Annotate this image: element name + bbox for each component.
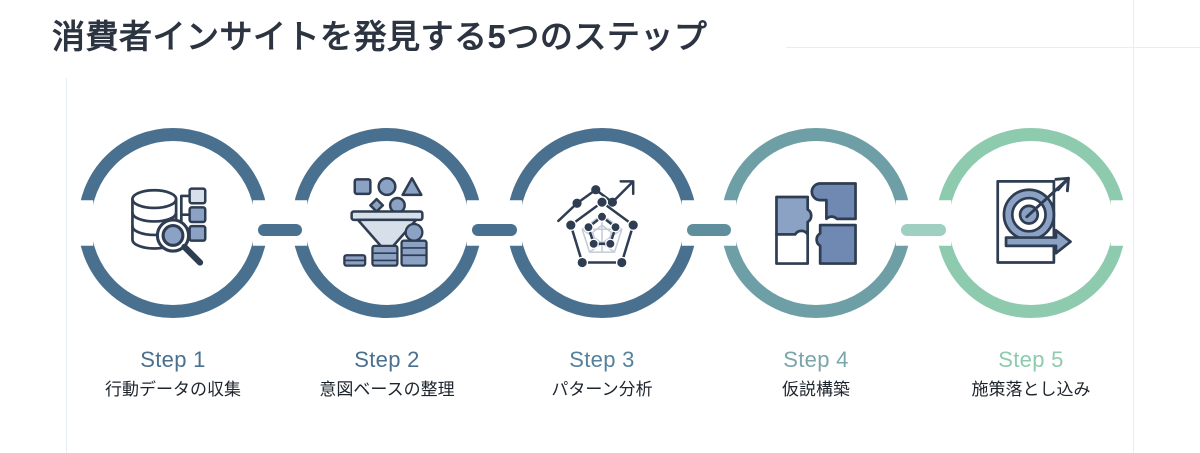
step-label-1: 行動データの収集 (58, 379, 288, 402)
step-circle-5[interactable] (936, 128, 1126, 318)
database-search-icon (121, 171, 225, 275)
step-label-4: 仮説構築 (701, 379, 931, 402)
target-document-icon (979, 171, 1083, 275)
step-label-5: 施策落とし込み (916, 379, 1146, 402)
guide-line-top (786, 47, 1200, 48)
step-number-4: Step 4 (701, 346, 931, 374)
step-chain (0, 128, 1200, 358)
step-circle-3[interactable] (507, 128, 697, 318)
step-caption-3: Step 3 パターン分析 (487, 346, 717, 401)
step-circle-1[interactable] (78, 128, 268, 318)
funnel-sort-icon (335, 171, 439, 275)
step-number-5: Step 5 (916, 346, 1146, 374)
infographic-canvas: 消費者インサイトを発見する5つのステップ (0, 0, 1200, 453)
step-caption-1: Step 1 行動データの収集 (58, 346, 288, 401)
network-trend-icon (550, 171, 654, 275)
step-label-3: パターン分析 (487, 379, 717, 402)
step-caption-5: Step 5 施策落とし込み (916, 346, 1146, 401)
step-number-2: Step 2 (272, 346, 502, 374)
page-title: 消費者インサイトを発見する5つのステップ (52, 17, 707, 57)
step-number-1: Step 1 (58, 346, 288, 374)
puzzle-pieces-icon (764, 171, 868, 275)
step-number-3: Step 3 (487, 346, 717, 374)
step-caption-4: Step 4 仮説構築 (701, 346, 931, 401)
step-caption-2: Step 2 意図ベースの整理 (272, 346, 502, 401)
step-circle-4[interactable] (721, 128, 911, 318)
step-circle-2[interactable] (292, 128, 482, 318)
step-label-2: 意図ベースの整理 (272, 379, 502, 402)
